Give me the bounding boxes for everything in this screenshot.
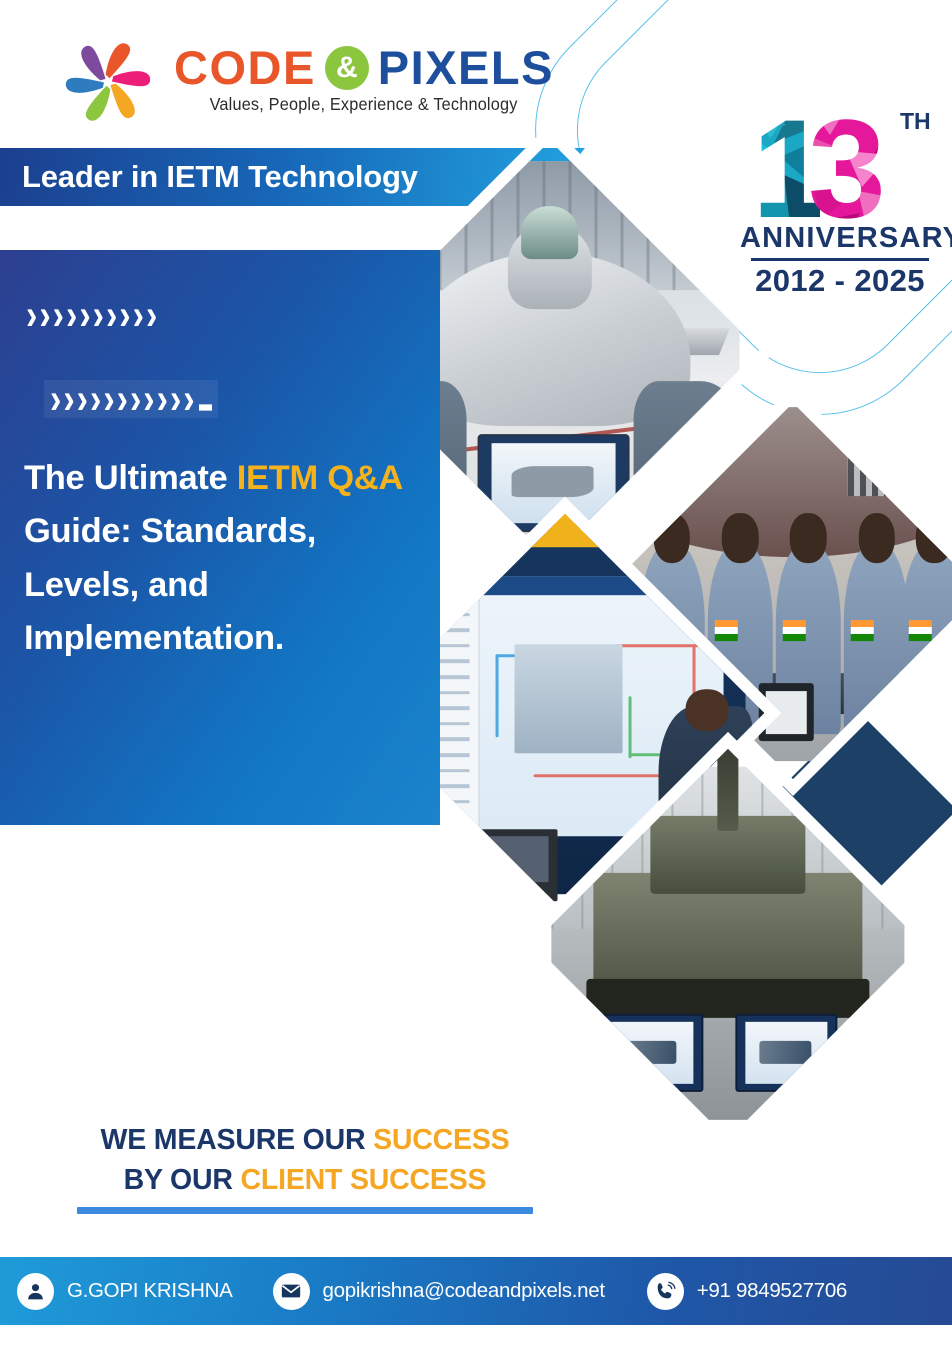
logo-code-text: CODE — [174, 44, 316, 91]
tagline-line-1-dark: WE MEASURE OUR — [101, 1124, 374, 1156]
chevron-icon: › — [90, 378, 101, 421]
chevron-icon: › — [117, 378, 128, 421]
chevron-icon: › — [103, 378, 114, 421]
chevron-icon: › — [53, 294, 64, 337]
hero-panel: ›››››››››› ››››››››››› The Ultimate IETM… — [0, 250, 440, 825]
logo-wordmark: CODE & PIXELS Values, People, Experience… — [174, 38, 554, 115]
logo-ampersand-text: & — [336, 53, 358, 83]
tagline-block: WE MEASURE OUR SUCCESS BY OUR CLIENT SUC… — [70, 1120, 540, 1214]
chevron-icon: › — [66, 294, 77, 337]
contact-person[interactable]: G.GOPI KRISHNA — [17, 1273, 233, 1310]
page-title-part-2 — [318, 459, 327, 497]
chevron-icon: › — [170, 378, 181, 421]
chevron-icon: › — [79, 294, 90, 337]
chevron-icon: › — [157, 378, 168, 421]
tagline-underline — [77, 1207, 533, 1214]
tagline-line-1-accent: SUCCESS — [373, 1124, 509, 1156]
chevron-icon: › — [106, 294, 117, 337]
chevron-dash-icon — [199, 404, 212, 410]
contact-email-text: gopikrishna@codeandpixels.net — [323, 1279, 605, 1303]
tagline-line-2-accent: CLIENT SUCCESS — [241, 1164, 487, 1196]
chevron-icon: › — [133, 294, 144, 337]
contact-email[interactable]: gopikrishna@codeandpixels.net — [273, 1273, 605, 1310]
brand-logo[interactable]: CODE & PIXELS Values, People, Experience… — [60, 38, 554, 126]
contact-footer: G.GOPI KRISHNA gopikrishna@codeandpixels… — [0, 1257, 952, 1325]
phone-icon — [647, 1273, 684, 1310]
chevron-icon: › — [26, 294, 37, 337]
page-title: The Ultimate IETM Q&A Guide: Standards, … — [24, 452, 424, 666]
tagline-line-2-dark: BY OUR — [124, 1164, 241, 1196]
chevron-icon: › — [183, 378, 194, 421]
contact-phone-text: +91 9849527706 — [697, 1279, 847, 1303]
chevron-icon: › — [50, 378, 61, 421]
logo-tagline: Values, People, Experience & Technology — [210, 94, 518, 115]
chevron-row-2: ››››››››››› — [44, 380, 218, 418]
tagline-line-1: WE MEASURE OUR SUCCESS — [70, 1120, 540, 1160]
contact-phone[interactable]: +91 9849527706 — [647, 1273, 847, 1310]
chevron-icon: › — [143, 378, 154, 421]
page-title-part-3: Q&A — [327, 459, 402, 497]
chevron-icon: › — [146, 294, 157, 337]
contact-person-text: G.GOPI KRISHNA — [67, 1279, 233, 1303]
envelope-icon — [273, 1273, 310, 1310]
person-icon — [17, 1273, 54, 1310]
chevron-icon: › — [130, 378, 141, 421]
logo-ampersand-badge: & — [325, 46, 369, 90]
chevron-icon: › — [39, 294, 50, 337]
page-title-part-4: Guide: Standards, Levels, and Implementa… — [24, 512, 316, 657]
chevron-icon: › — [119, 294, 130, 337]
chevron-icon: › — [93, 294, 104, 337]
page-title-part-0: The Ultimate — [24, 459, 237, 497]
pinwheel-icon — [60, 38, 156, 126]
chevron-icon: › — [77, 378, 88, 421]
tagline-line-2: BY OUR CLIENT SUCCESS — [70, 1160, 540, 1200]
page-title-part-1: IETM — [237, 459, 318, 497]
logo-pixels-text: PIXELS — [378, 44, 554, 91]
chevron-row-1: ›››››››››› — [26, 298, 157, 332]
chevron-icon: › — [63, 378, 74, 421]
poster-root: 1 3 — [0, 0, 952, 1347]
